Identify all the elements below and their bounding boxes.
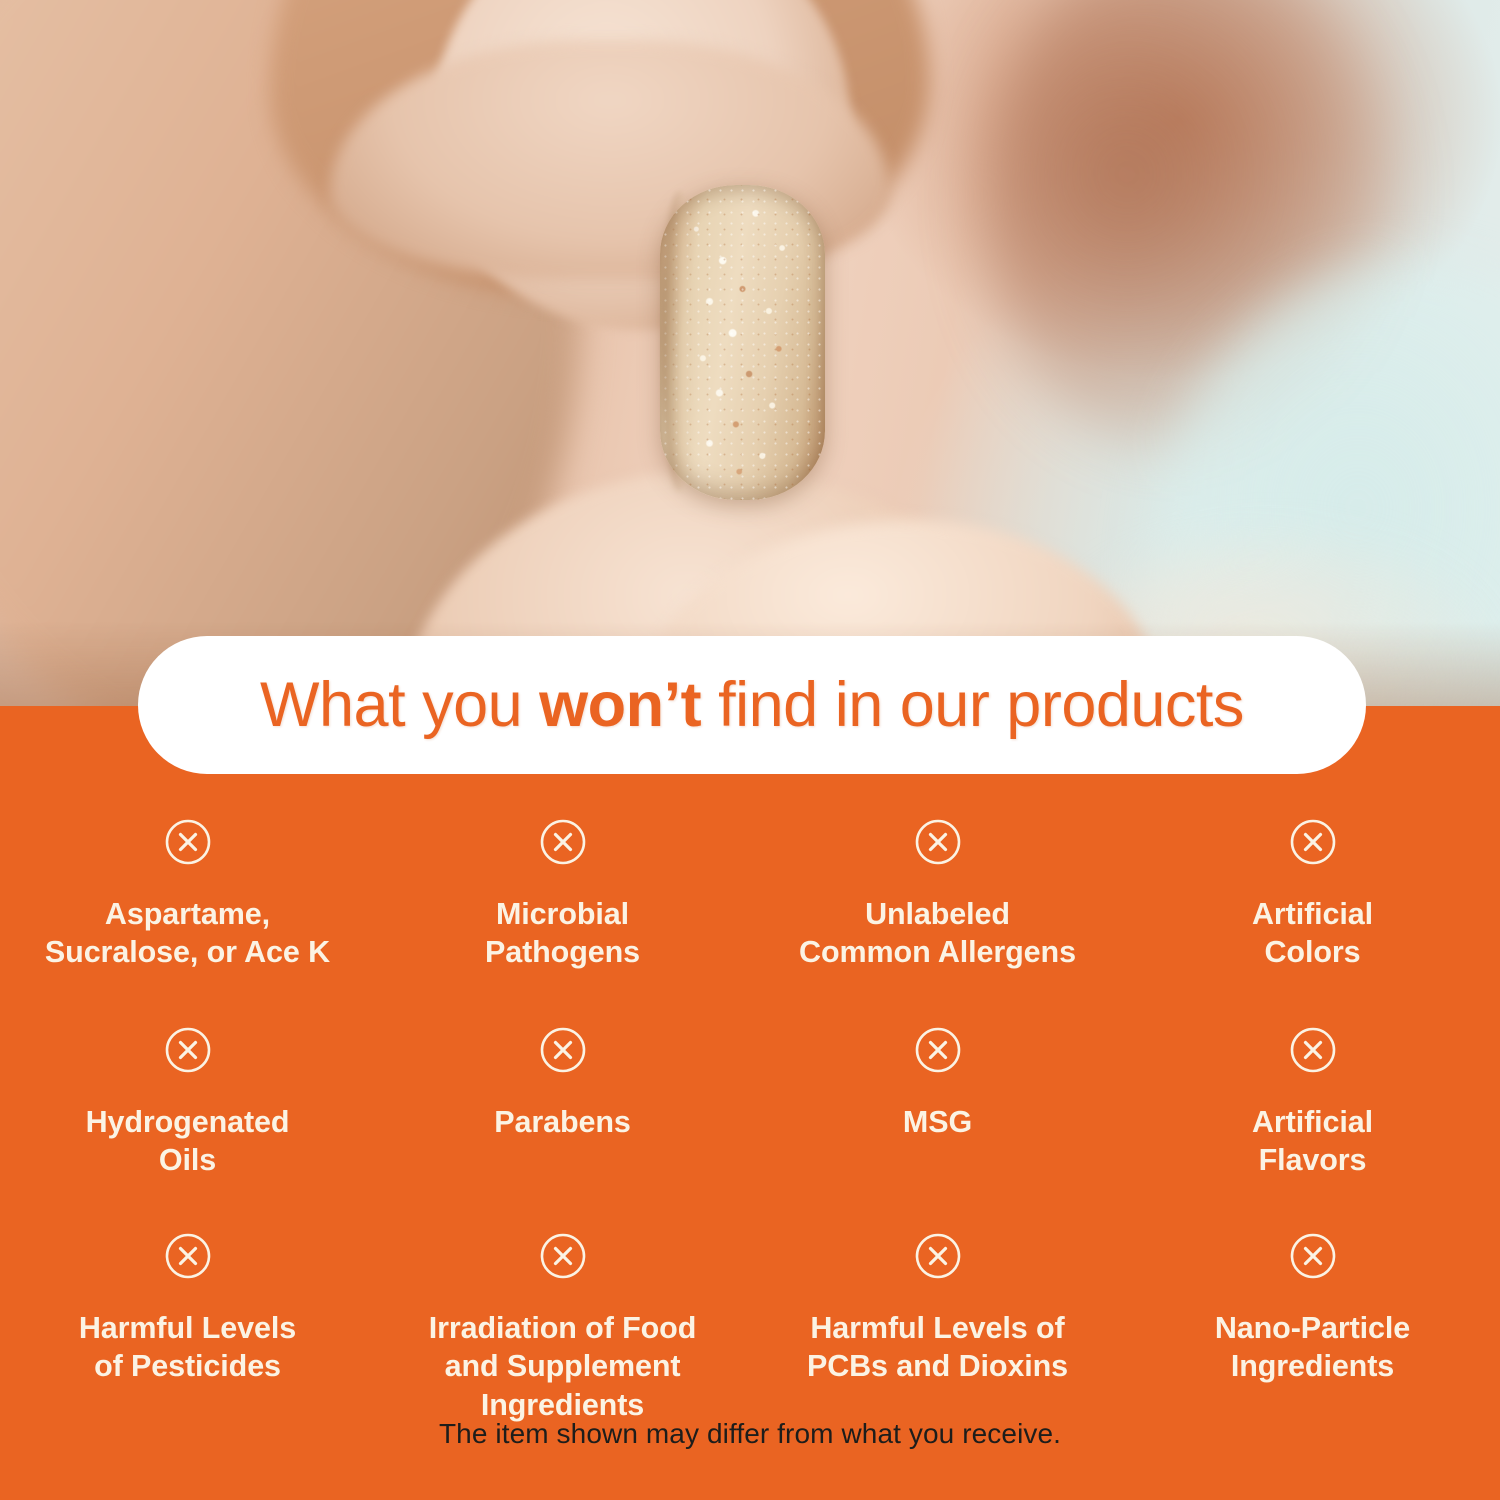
- exclusion-label: MSG: [903, 1103, 972, 1141]
- exclusion-item: Harmful Levels of Pesticides: [0, 1232, 375, 1424]
- tablet-image: [660, 185, 825, 500]
- circle-x-icon: [1289, 1232, 1337, 1280]
- product-infographic: What you won’t find in our products Aspa…: [0, 0, 1500, 1500]
- title-suffix: find in our products: [701, 670, 1244, 740]
- exclusion-label: Parabens: [494, 1103, 631, 1141]
- exclusion-label: Irradiation of Food and Supplement Ingre…: [429, 1309, 697, 1424]
- circle-x-icon: [539, 1026, 587, 1074]
- exclusion-item: Microbial Pathogens: [375, 818, 750, 994]
- exclusion-item: Artificial Colors: [1125, 818, 1500, 994]
- exclusion-item: Hydrogenated Oils: [0, 1026, 375, 1202]
- exclusion-label: Unlabeled Common Allergens: [799, 895, 1076, 972]
- exclusion-item: Irradiation of Food and Supplement Ingre…: [375, 1232, 750, 1424]
- hero-photo: [0, 0, 1500, 712]
- title-card: What you won’t find in our products: [138, 636, 1366, 774]
- grid-row: Aspartame, Sucralose, or Ace K Microbial…: [0, 818, 1500, 994]
- exclusion-item: MSG: [750, 1026, 1125, 1202]
- title-prefix: What you: [260, 670, 539, 740]
- title-emphasis: won’t: [539, 670, 701, 740]
- grid-row: Harmful Levels of Pesticides Irradiation…: [0, 1232, 1500, 1424]
- circle-x-icon: [164, 1026, 212, 1074]
- circle-x-icon: [914, 1232, 962, 1280]
- circle-x-icon: [539, 818, 587, 866]
- grid-row: Hydrogenated Oils Parabens MSG: [0, 1026, 1500, 1202]
- row-gap: [0, 994, 1500, 1026]
- exclusion-item: Aspartame, Sucralose, or Ace K: [0, 818, 375, 994]
- exclusion-label: Hydrogenated Oils: [86, 1103, 290, 1180]
- circle-x-icon: [1289, 818, 1337, 866]
- tablet-edge-shadow: [662, 191, 696, 491]
- exclusion-label: Aspartame, Sucralose, or Ace K: [45, 895, 330, 972]
- exclusion-label: Harmful Levels of PCBs and Dioxins: [807, 1309, 1068, 1386]
- circle-x-icon: [164, 1232, 212, 1280]
- row-gap: [0, 1202, 1500, 1232]
- circle-x-icon: [914, 1026, 962, 1074]
- exclusions-grid: Aspartame, Sucralose, or Ace K Microbial…: [0, 818, 1500, 1424]
- exclusion-item: Artificial Flavors: [1125, 1026, 1500, 1202]
- exclusion-item: Harmful Levels of PCBs and Dioxins: [750, 1232, 1125, 1424]
- exclusion-label: Nano-Particle Ingredients: [1215, 1309, 1410, 1386]
- circle-x-icon: [914, 818, 962, 866]
- exclusion-label: Microbial Pathogens: [485, 895, 640, 972]
- exclusion-label: Artificial Flavors: [1252, 1103, 1373, 1180]
- exclusion-item: Nano-Particle Ingredients: [1125, 1232, 1500, 1424]
- circle-x-icon: [1289, 1026, 1337, 1074]
- page-title: What you won’t find in our products: [260, 669, 1244, 741]
- circle-x-icon: [539, 1232, 587, 1280]
- exclusion-item: Parabens: [375, 1026, 750, 1202]
- exclusion-item: Unlabeled Common Allergens: [750, 818, 1125, 994]
- exclusion-label: Harmful Levels of Pesticides: [79, 1309, 296, 1386]
- exclusion-label: Artificial Colors: [1252, 895, 1373, 972]
- circle-x-icon: [164, 818, 212, 866]
